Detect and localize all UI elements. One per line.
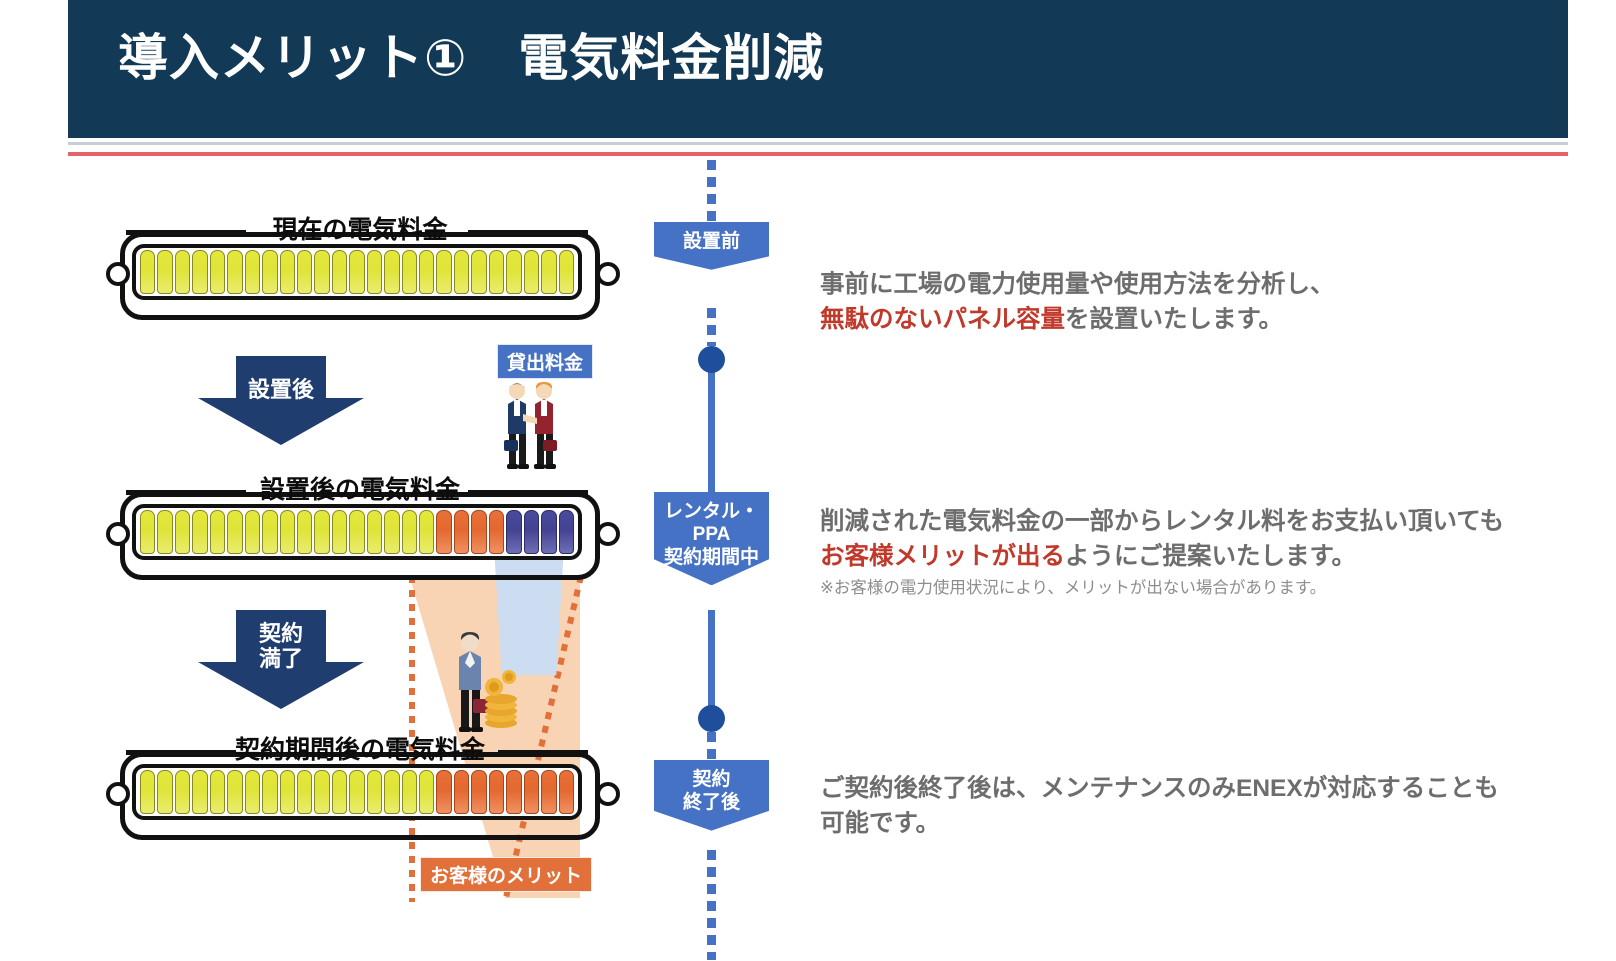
battery-cells — [132, 504, 582, 560]
battery-cell-yellow — [332, 510, 347, 554]
battery-cell-yellow — [332, 250, 347, 294]
paragraph-after-contract-tail: 可能です。 — [820, 810, 940, 837]
header-divider-red — [68, 152, 1568, 156]
timeline-dotted-mid-2 — [707, 732, 716, 762]
battery-cell-orange — [454, 770, 469, 814]
battery-cells — [132, 244, 582, 300]
battery-cell-orange — [454, 510, 469, 554]
battery-after-install-title: 設置後の電気料金 — [100, 470, 620, 506]
battery-cell-yellow — [175, 510, 190, 554]
battery-cell-orange — [524, 770, 539, 814]
page-title: 導入メリット① 電気料金削減 — [118, 18, 824, 90]
paragraph-after-contract-line1: ご契約後終了後は、メンテナンスのみENEXが対応することも — [820, 775, 1499, 802]
paragraph-during-contract-tail: ようにご提案いたします。 — [1065, 543, 1356, 570]
battery-cell-orange — [489, 770, 504, 814]
badge-customer-merit: お客様のメリット — [420, 857, 592, 892]
paragraph-after-contract: ご契約後終了後は、メンテナンスのみENEXが対応することも 可能です。 — [820, 772, 1580, 842]
paragraph-during-contract-note: ※お客様の電力使用状況により、メリットが出ない場合があります。 — [820, 578, 1580, 599]
battery-cell-yellow — [541, 250, 556, 294]
battery-cell-yellow — [349, 250, 364, 294]
battery-terminal-left — [106, 782, 130, 806]
battery-cell-yellow — [227, 510, 242, 554]
battery-cell-yellow — [419, 770, 434, 814]
battery-current: 現在の電気料金 — [100, 210, 620, 330]
battery-cell-yellow — [506, 250, 521, 294]
battery-cell-yellow — [419, 510, 434, 554]
battery-cell-yellow — [192, 250, 207, 294]
paragraph-before-install-highlight: 無駄のないパネル容量 — [820, 306, 1065, 333]
timeline-node-2 — [698, 705, 725, 732]
battery-cell-yellow — [402, 250, 417, 294]
battery-cell-yellow — [297, 770, 312, 814]
battery-cell-yellow — [349, 510, 364, 554]
battery-after-contract: 契約期間後の電気料金 — [100, 730, 620, 850]
battery-cell-yellow — [297, 510, 312, 554]
battery-cell-yellow — [210, 250, 225, 294]
explanation-text-column: 事前に工場の電力使用量や使用方法を分析し、 無駄のないパネル容量を設置いたします… — [820, 160, 1600, 960]
battery-cell-yellow — [210, 770, 225, 814]
battery-cell-yellow — [262, 770, 277, 814]
battery-cell-orange — [489, 510, 504, 554]
battery-cell-yellow — [332, 770, 347, 814]
battery-cell-yellow — [436, 250, 451, 294]
arrow-after-install-label: 設置後 — [196, 378, 366, 403]
battery-cell-orange — [471, 770, 486, 814]
battery-cell-orange — [506, 770, 521, 814]
businessman-with-coins-illustration — [443, 625, 523, 735]
battery-terminal-left — [106, 262, 130, 286]
battery-cell-yellow — [367, 770, 382, 814]
arrow-contract-end: 契約 満了 — [196, 610, 366, 715]
timeline-stage-during-contract: レンタル・ PPA 契約期間中 — [654, 492, 769, 585]
paragraph-before-install: 事前に工場の電力使用量や使用方法を分析し、 無駄のないパネル容量を設置いたします… — [820, 268, 1580, 338]
battery-cell-yellow — [559, 250, 574, 294]
timeline-dotted-bottom — [707, 850, 716, 960]
battery-cell-yellow — [245, 510, 260, 554]
battery-cell-blue — [541, 510, 556, 554]
battery-cell-yellow — [384, 770, 399, 814]
battery-cell-blue — [506, 510, 521, 554]
timeline-solid-1 — [708, 368, 715, 496]
arrow-contract-end-label: 契約 満了 — [196, 622, 366, 671]
battery-cell-yellow — [245, 770, 260, 814]
battery-terminal-right — [596, 522, 620, 546]
timeline-stage-after-contract: 契約 終了後 — [654, 760, 769, 831]
paragraph-during-contract-highlight: お客様メリットが出る — [820, 543, 1065, 570]
battery-cell-yellow — [471, 250, 486, 294]
battery-cell-yellow — [314, 250, 329, 294]
battery-cell-yellow — [245, 250, 260, 294]
battery-cell-yellow — [175, 770, 190, 814]
header-divider-gray — [68, 142, 1568, 145]
battery-cell-yellow — [297, 250, 312, 294]
battery-current-title: 現在の電気料金 — [100, 210, 620, 246]
battery-cell-yellow — [524, 250, 539, 294]
battery-cell-yellow — [140, 770, 155, 814]
battery-cell-yellow — [384, 510, 399, 554]
battery-cell-yellow — [367, 510, 382, 554]
battery-cell-yellow — [210, 510, 225, 554]
battery-cell-yellow — [280, 510, 295, 554]
battery-cell-orange — [436, 770, 451, 814]
battery-cell-yellow — [140, 510, 155, 554]
paragraph-during-contract: 削減された電気料金の一部からレンタル料をお支払い頂いても お客様メリットが出るよ… — [820, 505, 1580, 599]
battery-cell-yellow — [314, 510, 329, 554]
battery-cells — [132, 764, 582, 820]
battery-terminal-right — [596, 782, 620, 806]
paragraph-during-contract-line1: 削減された電気料金の一部からレンタル料をお支払い頂いても — [820, 508, 1504, 535]
battery-terminal-left — [106, 522, 130, 546]
timeline-dotted-top — [707, 160, 716, 222]
battery-cell-yellow — [157, 770, 172, 814]
battery-cell-yellow — [192, 770, 207, 814]
battery-after-contract-title: 契約期間後の電気料金 — [100, 730, 620, 766]
battery-cell-blue — [559, 510, 574, 554]
timeline-stage-before-install: 設置前 — [654, 222, 769, 270]
battery-cell-yellow — [262, 250, 277, 294]
paragraph-before-install-line1: 事前に工場の電力使用量や使用方法を分析し、 — [820, 271, 1335, 298]
battery-cell-yellow — [402, 770, 417, 814]
battery-cell-yellow — [192, 510, 207, 554]
battery-cell-yellow — [227, 250, 242, 294]
battery-cell-orange — [471, 510, 486, 554]
battery-cell-yellow — [157, 510, 172, 554]
battery-cell-yellow — [489, 250, 504, 294]
battery-cell-yellow — [280, 250, 295, 294]
paragraph-before-install-tail: を設置いたします。 — [1065, 306, 1283, 333]
badge-rental-fee: 貸出料金 — [497, 344, 593, 379]
battery-cell-blue — [524, 510, 539, 554]
arrow-after-install: 設置後 — [196, 356, 366, 451]
battery-cell-yellow — [349, 770, 364, 814]
battery-cell-orange — [436, 510, 451, 554]
battery-cell-yellow — [314, 770, 329, 814]
battery-cell-yellow — [175, 250, 190, 294]
battery-after-install: 設置後の電気料金 — [100, 470, 620, 590]
timeline-node-1 — [698, 346, 725, 373]
battery-cell-yellow — [384, 250, 399, 294]
battery-cell-yellow — [367, 250, 382, 294]
project-timeline: 設置前 レンタル・ PPA 契約期間中 契約 終了後 — [640, 160, 805, 960]
battery-cell-yellow — [140, 250, 155, 294]
battery-cell-yellow — [157, 250, 172, 294]
timeline-dotted-mid-1 — [707, 308, 716, 346]
header-banner: 導入メリット① 電気料金削減 — [68, 0, 1568, 138]
battery-cell-yellow — [280, 770, 295, 814]
battery-terminal-right — [596, 262, 620, 286]
battery-cell-yellow — [454, 250, 469, 294]
battery-cell-yellow — [227, 770, 242, 814]
handshake-illustration — [499, 378, 561, 474]
battery-cell-yellow — [419, 250, 434, 294]
battery-cell-orange — [559, 770, 574, 814]
battery-cell-orange — [541, 770, 556, 814]
battery-cell-yellow — [402, 510, 417, 554]
electricity-cost-diagram: 現在の電気料金 設置後 貸出料金 — [0, 160, 640, 960]
battery-cell-yellow — [262, 510, 277, 554]
timeline-solid-2 — [708, 610, 715, 708]
